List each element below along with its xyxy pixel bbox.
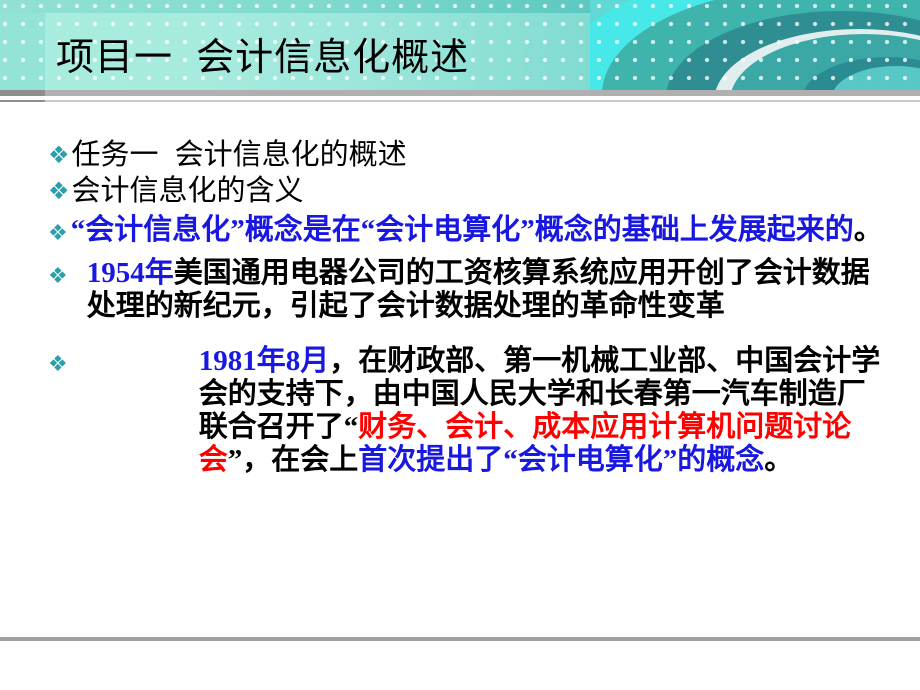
bullet-5-concept-term: “会计电算化”的概念 <box>503 444 764 476</box>
diamond-bullet-icon: ❖ <box>48 174 70 204</box>
bullet-4-year: 1954年 <box>87 257 174 289</box>
header-decorative-arcs <box>590 0 920 90</box>
bullet-item-4: ❖ 1954年美国通用电器公司的工资核算系统应用开创了会计数据处理的新纪元，引起… <box>48 257 886 323</box>
bullet-item-3: ❖ “会计信息化”概念是在“会计电算化”概念的基础上发展起来的。 <box>48 214 886 247</box>
bullet-5-date: 1981年8月 <box>199 345 330 377</box>
slide: 项目一 会计信息化概述 ❖ 任务一 会计信息化的概述 ❖ 会计信息化的含义 ❖ … <box>0 0 920 690</box>
bullet-item-3-paragraph: “会计信息化”概念是在“会计电算化”概念的基础上发展起来的。 <box>71 214 886 247</box>
diamond-bullet-icon: ❖ <box>48 257 68 287</box>
slide-body: ❖ 任务一 会计信息化的概述 ❖ 会计信息化的含义 ❖ “会计信息化”概念是在“… <box>48 138 886 477</box>
bullet-5-text-part-2: ”，在会上 <box>228 444 359 476</box>
bullet-item-5: ❖ 1981年8月，在财政部、第一机械工业部、中国会计学会的支持下，由中国人民大… <box>48 345 886 477</box>
bullet-3-blue-text: “会计信息化”概念是在“会计电算化”概念的基础上发展起来的 <box>71 214 854 246</box>
bullet-item-1: ❖ 任务一 会计信息化的概述 <box>48 138 886 172</box>
bullet-4-body-text: 美国通用电器公司的工资核算系统应用开创了会计数据处理的新纪元，引起了会计数据处理… <box>87 257 870 322</box>
header-left-block <box>0 13 45 90</box>
page-title: 项目一 会计信息化概述 <box>56 36 469 80</box>
bullet-3-period: 。 <box>854 214 883 246</box>
bullet-item-2-label: 会计信息化的含义 <box>72 174 886 208</box>
bullet-5-blue-phrase: 首次提出了 <box>358 444 503 476</box>
header-rule-thin-accent <box>0 100 45 102</box>
header-rule-thick-accent <box>0 90 45 96</box>
diamond-bullet-icon: ❖ <box>48 138 70 168</box>
diamond-bullet-icon: ❖ <box>48 214 68 244</box>
header-rule-thin <box>0 100 920 102</box>
slide-header-banner: 项目一 会计信息化概述 <box>0 0 920 90</box>
header-rule-thick <box>0 90 920 96</box>
bullet-item-5-paragraph: 1981年8月，在财政部、第一机械工业部、中国会计学会的支持下，由中国人民大学和… <box>71 345 886 477</box>
footer-divider <box>0 637 920 641</box>
bullet-5-period: 。 <box>764 444 793 476</box>
bullet-item-4-paragraph: 1954年美国通用电器公司的工资核算系统应用开创了会计数据处理的新纪元，引起了会… <box>71 257 886 323</box>
bullet-item-1-label: 任务一 会计信息化的概述 <box>72 138 886 172</box>
diamond-bullet-icon: ❖ <box>48 345 68 375</box>
bullet-item-2: ❖ 会计信息化的含义 <box>48 174 886 208</box>
